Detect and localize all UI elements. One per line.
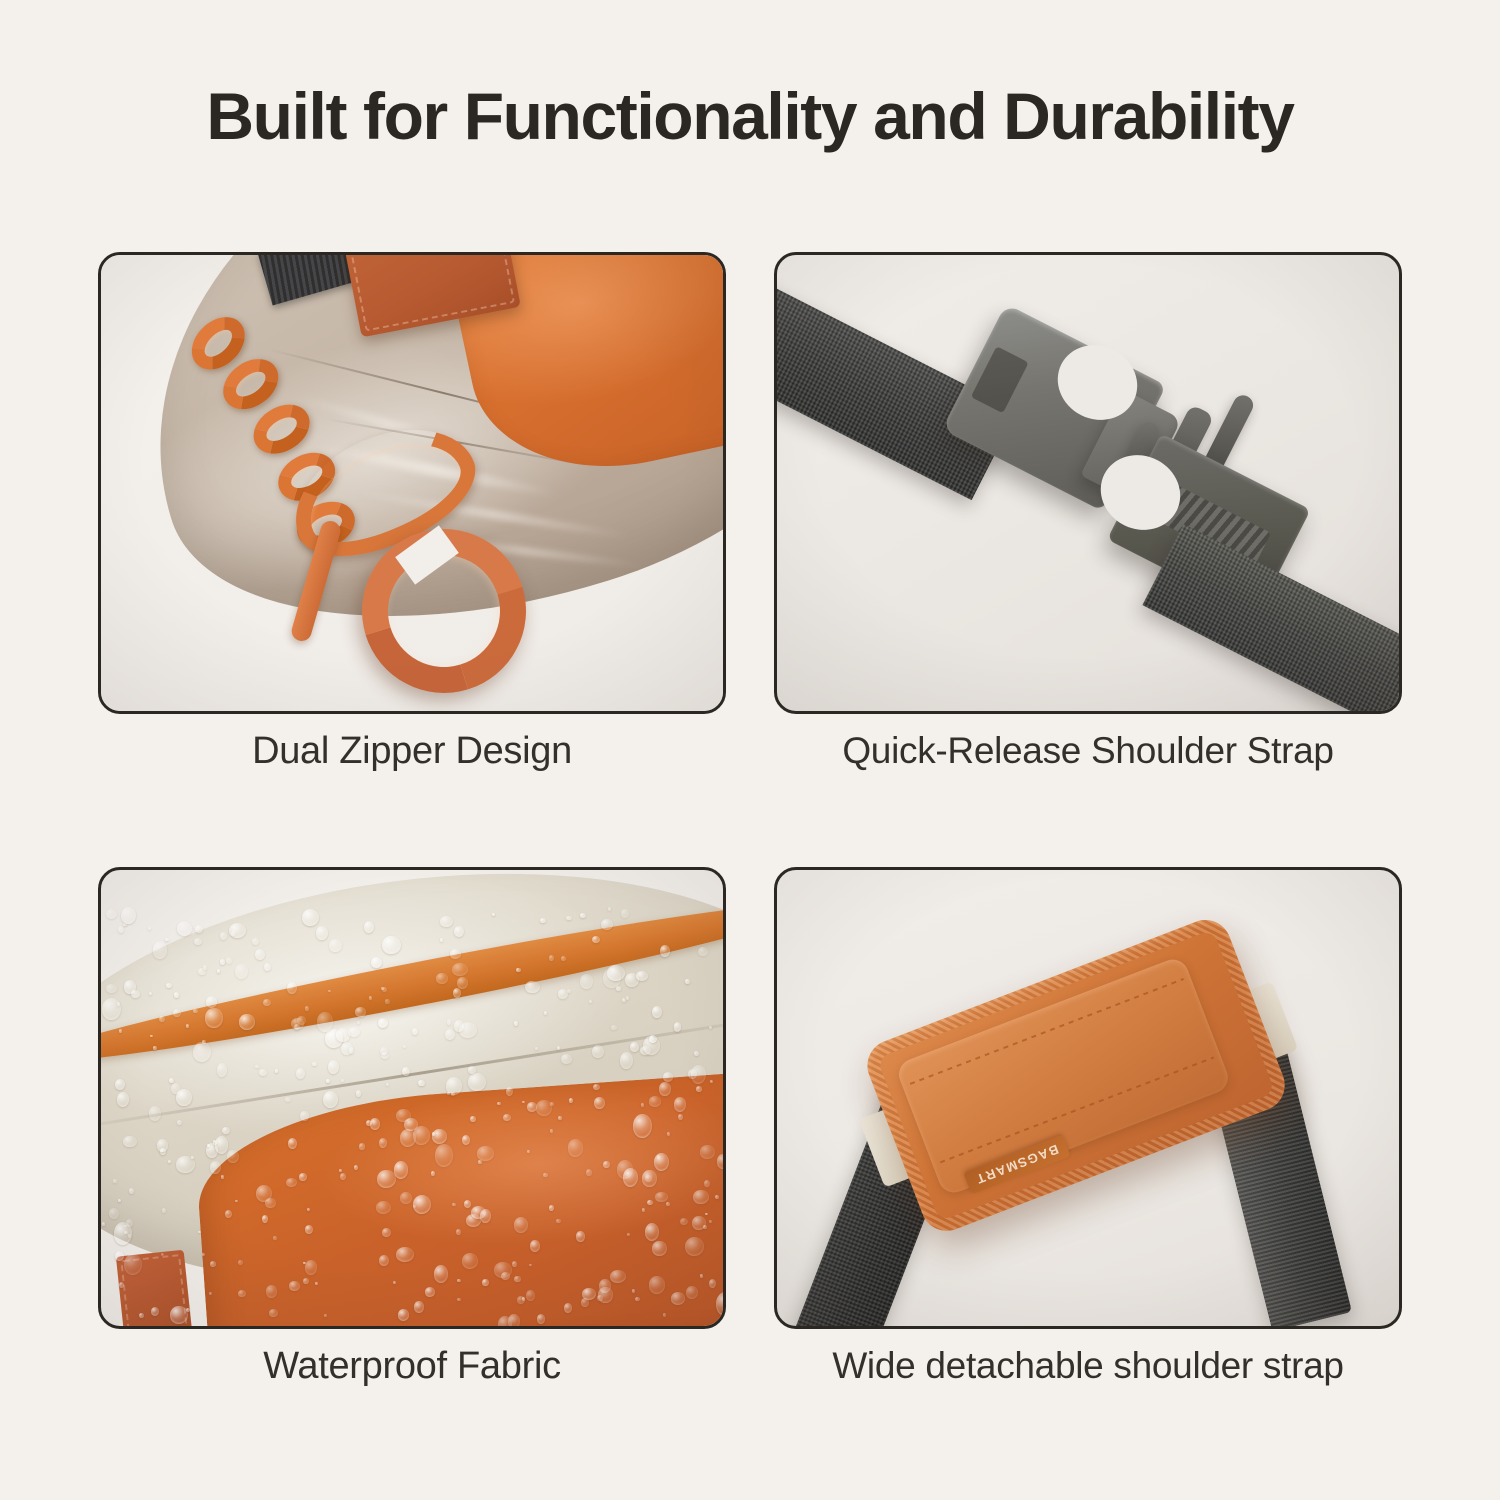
water-droplet <box>576 1231 584 1242</box>
water-droplet <box>592 1045 605 1058</box>
water-droplet <box>642 1170 656 1187</box>
water-droplet <box>431 1171 435 1176</box>
water-droplet <box>445 1029 456 1040</box>
water-droplet <box>255 949 265 960</box>
water-droplet <box>102 1222 105 1225</box>
feature-card-wide-strap: BAGSMART Wide detachable shoulder strap <box>774 867 1402 1482</box>
water-droplet <box>394 1161 409 1179</box>
water-droplet <box>364 921 374 932</box>
water-droplet <box>522 1101 525 1104</box>
water-droplet <box>652 1006 662 1018</box>
water-droplet <box>632 1289 635 1293</box>
water-droplet <box>131 990 139 998</box>
water-droplet <box>549 1205 554 1211</box>
feature-image-dual-zipper <box>98 252 726 714</box>
water-droplet <box>215 1136 229 1153</box>
water-droplet <box>599 1279 611 1293</box>
water-droplet <box>603 1161 610 1169</box>
water-droplet <box>642 1208 645 1211</box>
water-droplet <box>305 1260 317 1274</box>
water-droplet <box>715 1195 719 1199</box>
feature-caption-waterproof: Waterproof Fabric <box>98 1345 726 1388</box>
water-droplet <box>238 1290 246 1296</box>
water-droplet <box>667 1132 670 1136</box>
water-droplet <box>698 947 708 955</box>
water-droplet <box>207 1144 210 1147</box>
water-droplet <box>447 1019 452 1024</box>
water-droplet <box>645 1223 659 1241</box>
water-droplet <box>382 936 401 954</box>
water-droplet <box>620 1052 633 1069</box>
water-droplet <box>414 1301 423 1312</box>
water-droplet <box>568 1139 584 1156</box>
page-title: Built for Functionality and Durability <box>0 78 1500 154</box>
water-droplet <box>173 1009 180 1016</box>
water-droplet <box>117 1092 129 1107</box>
water-droplet <box>440 938 443 942</box>
water-droplet <box>550 1102 554 1106</box>
shoulder-pad <box>860 912 1292 1237</box>
water-droplet <box>457 1279 460 1282</box>
water-droplet <box>580 913 586 918</box>
water-droplet <box>709 1026 712 1029</box>
water-droplet <box>561 1054 572 1064</box>
water-droplet <box>296 1068 306 1079</box>
water-droplet <box>225 1210 232 1218</box>
water-droplet <box>453 988 461 998</box>
water-droplet <box>655 1192 668 1202</box>
water-droplet <box>291 1018 304 1029</box>
water-droplet <box>357 1021 360 1024</box>
water-droplet <box>193 1009 197 1013</box>
water-droplet <box>305 1225 313 1234</box>
water-droplet <box>569 1098 573 1103</box>
water-droplet <box>450 949 462 959</box>
water-droplet <box>413 1126 430 1145</box>
water-droplet <box>288 1138 297 1149</box>
feature-caption-dual-zipper: Dual Zipper Design <box>98 730 726 773</box>
water-droplet <box>102 998 121 1020</box>
water-droplet <box>446 1077 462 1095</box>
water-droplet <box>561 956 566 961</box>
water-droplet <box>109 1208 119 1219</box>
water-droplet <box>497 1102 501 1105</box>
water-droplet <box>704 1180 711 1188</box>
infographic-page: Built for Functionality and Durability <box>0 0 1500 1500</box>
water-droplet <box>567 989 572 993</box>
water-droplet <box>696 1086 703 1092</box>
water-droplet <box>195 925 203 932</box>
water-droplet <box>478 1160 482 1164</box>
water-droplet <box>512 1261 517 1267</box>
water-droplet <box>129 1188 134 1194</box>
water-droplet <box>671 1292 685 1304</box>
water-droplet <box>403 1045 406 1048</box>
water-droplet <box>659 1082 671 1096</box>
water-droplet <box>106 909 117 919</box>
water-droplet <box>259 1069 267 1076</box>
water-droplet <box>176 1089 192 1107</box>
water-droplet <box>328 1060 339 1074</box>
water-droplet <box>544 1011 547 1015</box>
water-droplet <box>210 1161 221 1174</box>
water-droplet <box>229 923 246 938</box>
water-droplet <box>492 913 495 916</box>
water-droplet <box>329 939 341 952</box>
water-droplet <box>150 1035 153 1037</box>
water-droplet <box>530 1240 541 1252</box>
feature-card-waterproof: Waterproof Fabric <box>98 867 726 1482</box>
water-droplet <box>235 1200 238 1203</box>
water-droplet <box>287 982 298 994</box>
water-droplet <box>302 909 319 926</box>
water-droplet <box>654 1153 670 1171</box>
water-droplet <box>630 1042 639 1052</box>
water-droplet <box>379 1255 389 1266</box>
water-droplet <box>121 907 135 924</box>
water-droplet <box>633 1114 652 1138</box>
water-droplet <box>376 1201 391 1214</box>
water-droplet <box>168 1160 171 1163</box>
water-droplet <box>564 1303 572 1313</box>
water-droplet <box>693 1190 709 1204</box>
water-droplet <box>516 968 520 972</box>
water-droplet <box>480 1209 491 1223</box>
water-droplet <box>340 1173 346 1180</box>
water-droplet <box>339 1169 342 1172</box>
water-droplet <box>166 983 172 988</box>
water-droplet <box>418 1080 424 1087</box>
feature-caption-quick-release: Quick-Release Shoulder Strap <box>774 730 1402 772</box>
water-droplet <box>454 926 464 937</box>
water-droplet <box>316 926 328 941</box>
water-droplet <box>626 996 629 1000</box>
water-droplet <box>381 1052 389 1059</box>
water-droplet <box>217 1063 227 1076</box>
water-droplet <box>700 1145 716 1158</box>
water-droplet <box>674 1097 686 1112</box>
water-droplet <box>508 1314 520 1329</box>
water-droplet <box>239 1014 255 1031</box>
water-droplet <box>457 977 468 989</box>
water-droplet <box>170 1306 188 1323</box>
water-droplet <box>558 1116 562 1120</box>
water-droplet <box>517 1296 525 1304</box>
water-droplet <box>386 1083 389 1086</box>
water-droplet <box>468 1073 486 1091</box>
water-droplet <box>400 1192 412 1204</box>
water-droplet <box>114 1222 132 1245</box>
water-droplet <box>262 1215 268 1223</box>
water-droplet <box>603 968 620 988</box>
water-droplet <box>139 1313 144 1318</box>
water-droplet <box>202 1253 205 1256</box>
water-droplet <box>709 1220 712 1224</box>
water-droplet <box>359 1143 366 1149</box>
water-droplet <box>514 1276 520 1282</box>
water-droplet <box>354 1165 358 1170</box>
water-droplet <box>317 1012 333 1032</box>
water-droplet <box>235 964 248 979</box>
feature-image-waterproof <box>98 867 726 1329</box>
water-droplet <box>177 921 192 936</box>
water-droplets <box>101 870 723 1326</box>
water-droplet <box>324 1314 327 1318</box>
water-droplet <box>557 1046 560 1050</box>
water-droplet <box>165 938 169 942</box>
water-droplet <box>593 1084 600 1090</box>
water-droplet <box>119 1282 124 1288</box>
water-droplet <box>266 1285 277 1298</box>
water-droplet <box>589 1000 593 1003</box>
water-droplet <box>193 1042 212 1062</box>
water-droplet <box>688 1069 697 1079</box>
water-droplet <box>149 992 152 996</box>
water-droplet <box>525 981 539 993</box>
water-droplet <box>514 1217 529 1233</box>
water-droplet <box>148 927 151 930</box>
water-droplet <box>506 1087 514 1097</box>
water-droplet <box>341 1079 344 1081</box>
water-droplet <box>482 1279 488 1286</box>
water-droplet <box>115 1251 124 1261</box>
water-droplet <box>378 1018 388 1028</box>
water-droplet <box>238 1260 243 1265</box>
water-droplet <box>203 965 207 969</box>
water-droplet <box>566 916 571 920</box>
water-droplet <box>269 1309 278 1316</box>
water-droplet <box>586 1169 592 1176</box>
water-droplet <box>440 916 452 927</box>
water-droplet <box>113 1179 117 1182</box>
feature-card-quick-release: Quick-Release Shoulder Strap <box>774 252 1402 867</box>
water-droplet <box>703 1225 707 1229</box>
water-droplet <box>526 1290 535 1301</box>
water-droplet <box>328 990 331 993</box>
water-droplet <box>273 1236 277 1240</box>
water-droplet <box>477 1146 493 1161</box>
water-droplet <box>611 1025 617 1030</box>
water-droplet <box>177 1120 182 1126</box>
water-droplet <box>385 999 389 1004</box>
water-droplet <box>452 1203 456 1206</box>
water-droplet <box>716 1292 726 1316</box>
water-droplet <box>592 936 600 943</box>
water-droplet <box>227 1150 239 1163</box>
water-droplet <box>535 1047 538 1050</box>
water-droplet <box>550 1129 554 1133</box>
water-droplet <box>705 1213 708 1216</box>
water-droplet <box>608 907 612 911</box>
water-droplet <box>674 1022 682 1031</box>
water-droplet <box>652 1241 667 1256</box>
water-droplet <box>529 1264 532 1267</box>
water-droplet <box>369 996 372 1000</box>
water-droplet <box>537 1314 546 1324</box>
water-droplet <box>501 1272 510 1280</box>
water-droplet <box>123 1136 137 1148</box>
water-droplet <box>636 971 648 981</box>
water-droplet <box>434 1265 448 1283</box>
water-droplet <box>398 1309 409 1320</box>
water-droplet <box>194 938 202 945</box>
water-droplet <box>580 974 593 989</box>
water-droplet <box>299 1173 306 1181</box>
water-droplet <box>635 1297 640 1301</box>
water-droplet <box>149 1106 161 1121</box>
water-droplet <box>685 1237 704 1256</box>
water-droplet <box>157 1139 168 1153</box>
water-droplet <box>556 1219 561 1224</box>
water-droplet <box>621 909 629 917</box>
water-droplet <box>210 1261 216 1266</box>
water-droplet <box>186 1024 189 1028</box>
water-droplet <box>382 1228 391 1237</box>
water-droplet <box>303 1278 309 1284</box>
water-droplet <box>379 1138 387 1148</box>
water-droplet <box>709 1279 717 1288</box>
water-droplet <box>581 1298 588 1307</box>
water-droplet <box>514 1021 519 1027</box>
water-droplet <box>300 1111 308 1121</box>
water-droplet <box>305 1006 309 1010</box>
water-droplet <box>456 1229 461 1235</box>
water-droplet <box>326 1079 330 1083</box>
water-droplet <box>457 1298 461 1301</box>
water-droplet <box>220 932 227 940</box>
water-droplet <box>323 1091 338 1108</box>
water-droplet <box>616 986 621 990</box>
water-droplet <box>452 963 468 976</box>
water-droplet <box>413 1195 432 1214</box>
water-droplet <box>425 1287 435 1297</box>
water-droplet <box>663 1072 673 1082</box>
water-droplet <box>315 1282 318 1286</box>
water-droplet <box>694 1051 699 1056</box>
water-droplet <box>680 1218 688 1225</box>
water-droplet <box>255 1065 259 1068</box>
feature-card-dual-zipper: Dual Zipper Design <box>98 252 726 867</box>
water-droplet <box>356 1090 361 1096</box>
water-droplet <box>432 1132 436 1136</box>
water-droplet <box>118 926 124 933</box>
water-droplet <box>393 1281 396 1284</box>
water-droplet <box>459 1022 477 1038</box>
feature-image-wide-strap: BAGSMART <box>774 867 1402 1329</box>
water-droplet <box>119 1029 122 1032</box>
water-droplet <box>226 957 232 964</box>
water-droplet <box>174 992 179 997</box>
water-droplet <box>348 1027 360 1037</box>
water-droplet <box>649 1276 665 1293</box>
water-droplet <box>206 996 217 1007</box>
water-droplet <box>263 999 271 1007</box>
water-droplet <box>153 1046 157 1049</box>
water-droplet <box>623 1168 638 1187</box>
water-droplet <box>162 1208 166 1213</box>
water-droplet <box>118 1199 121 1202</box>
water-droplet <box>151 1307 159 1316</box>
water-droplet <box>543 1173 547 1177</box>
water-droplet <box>264 963 270 971</box>
water-droplet <box>678 1114 683 1120</box>
water-droplet <box>153 941 168 958</box>
water-droplet <box>649 1035 657 1042</box>
water-droplet <box>115 1079 125 1090</box>
water-droplet <box>221 1175 225 1178</box>
feature-image-quick-release <box>774 252 1402 714</box>
water-droplet <box>371 957 381 967</box>
water-droplet <box>124 1254 142 1275</box>
water-droplet <box>549 955 554 961</box>
water-droplet <box>666 1202 669 1206</box>
water-droplet <box>436 973 448 984</box>
water-droplet <box>649 1096 661 1106</box>
water-droplet <box>462 1253 478 1269</box>
water-droplet <box>660 945 670 957</box>
water-droplet <box>627 1233 630 1236</box>
water-droplet <box>265 1198 275 1208</box>
water-droplet <box>205 1008 223 1028</box>
water-droplet <box>462 1135 471 1145</box>
water-droplet <box>209 1292 212 1295</box>
water-droplet <box>106 984 117 994</box>
water-droplet <box>540 918 546 924</box>
water-droplet <box>594 1097 605 1109</box>
water-droplet <box>464 1200 471 1208</box>
water-droplet <box>647 1200 653 1205</box>
water-droplet <box>217 969 221 973</box>
water-droplet <box>275 1069 279 1073</box>
water-droplet <box>377 1170 396 1188</box>
water-droplet <box>396 1247 414 1262</box>
water-droplet <box>312 1062 317 1066</box>
water-droplet <box>191 1156 195 1160</box>
water-droplet <box>286 1178 297 1187</box>
water-droplet <box>159 1016 165 1022</box>
water-droplet <box>355 1007 365 1017</box>
water-droplet <box>503 1114 511 1121</box>
water-droplet <box>307 1208 310 1211</box>
feature-caption-wide-strap: Wide detachable shoulder strap <box>774 1345 1402 1387</box>
water-droplet <box>641 1103 645 1107</box>
water-droplet <box>161 1253 164 1256</box>
water-droplet <box>412 1028 418 1035</box>
water-droplet <box>349 1047 354 1054</box>
water-droplet <box>610 1270 626 1283</box>
water-droplet <box>402 1067 410 1076</box>
water-droplet <box>470 1116 476 1122</box>
water-droplet <box>685 979 690 985</box>
water-droplet <box>601 919 613 930</box>
water-droplet <box>222 1127 230 1134</box>
water-droplet <box>686 1286 698 1299</box>
water-droplet <box>435 1144 453 1167</box>
water-droplet <box>289 1281 300 1292</box>
water-droplet <box>717 1154 726 1169</box>
feature-grid: Dual Zipper Design Quick-Release Shoulde… <box>98 252 1402 1432</box>
water-droplet <box>285 1097 291 1102</box>
water-droplet <box>198 1231 201 1233</box>
water-droplet <box>252 938 260 946</box>
water-droplet <box>700 1274 703 1277</box>
water-droplet <box>527 1150 530 1154</box>
water-droplet <box>663 1313 667 1316</box>
water-droplet <box>220 959 226 965</box>
water-droplet <box>710 1080 713 1083</box>
